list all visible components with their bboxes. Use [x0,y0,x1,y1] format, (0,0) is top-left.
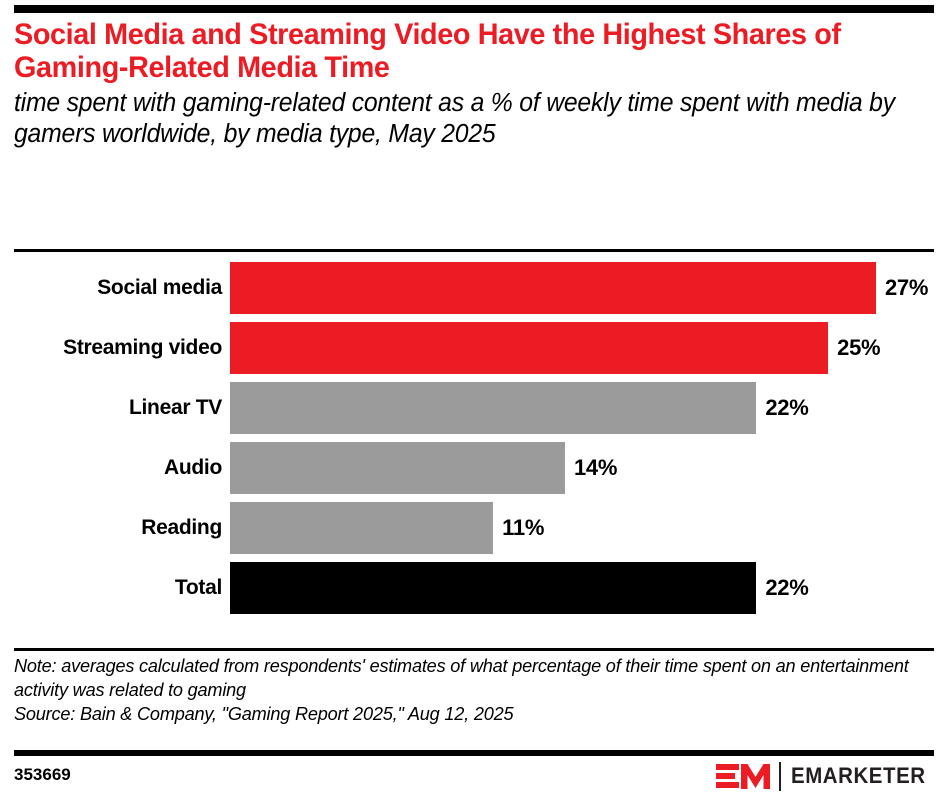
bar-category-label: Streaming video [0,322,222,374]
bar-row: Social media27% [0,262,948,314]
bar-row: Total22% [0,562,948,614]
chart-page: Social Media and Streaming Video Have th… [0,0,948,802]
bar-social-media [230,262,876,314]
bar-chart: Social media27%Streaming video25%Linear … [0,262,948,634]
bar-track: 27% [230,262,948,314]
plot-note-divider [14,648,934,651]
bar-total [230,562,756,614]
bar-streaming-video [230,322,828,374]
bar-reading [230,502,493,554]
bar-value-label: 27% [876,262,928,314]
bar-track: 22% [230,562,948,614]
chart-header: Social Media and Streaming Video Have th… [14,18,934,150]
logo-wordmark: EMARKETER [791,763,926,789]
note-text: Note: averages calculated from responden… [14,654,920,702]
bar-track: 25% [230,322,948,374]
bar-value-label: 22% [756,562,808,614]
bar-row: Linear TV22% [0,382,948,434]
bottom-rule-divider [14,750,934,756]
bar-value-label: 11% [493,502,544,554]
bar-row: Audio14% [0,442,948,494]
emarketer-logo: EMARKETER [716,760,936,792]
chart-subtitle: time spent with gaming-related content a… [14,88,906,150]
top-rule-divider [14,5,934,13]
bar-linear-tv [230,382,756,434]
bar-track: 22% [230,382,948,434]
chart-id-number: 353669 [14,765,71,785]
logo-divider [779,762,781,791]
footnotes: Note: averages calculated from responden… [14,654,938,726]
bar-value-label: 14% [565,442,617,494]
bar-category-label: Social media [0,262,222,314]
bar-category-label: Audio [0,442,222,494]
bar-value-label: 22% [756,382,808,434]
bar-track: 11% [230,502,948,554]
bar-category-label: Reading [0,502,222,554]
bar-row: Reading11% [0,502,948,554]
bar-track: 14% [230,442,948,494]
bar-audio [230,442,565,494]
bar-category-label: Total [0,562,222,614]
header-plot-divider [14,249,934,252]
bar-row: Streaming video25% [0,322,948,374]
em-logo-icon [716,763,770,790]
em-logo-m-icon [741,764,770,789]
bar-value-label: 25% [828,322,880,374]
chart-title: Social Media and Streaming Video Have th… [14,18,897,84]
source-text: Source: Bain & Company, "Gaming Report 2… [14,702,920,726]
bar-category-label: Linear TV [0,382,222,434]
